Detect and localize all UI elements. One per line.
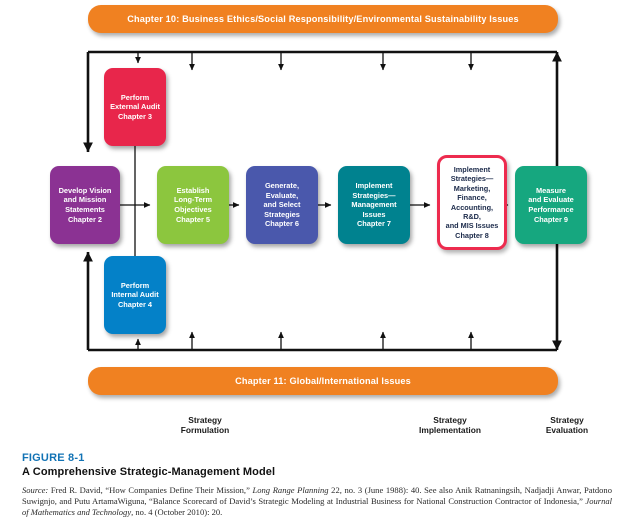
- bracket-label-strategy-formulation: Strategy Formulation: [150, 415, 260, 436]
- node-perform-internal-audit: Perform Internal Audit Chapter 4: [104, 256, 166, 334]
- source-journal-1: Long Range Planning: [253, 485, 329, 495]
- node-develop-vision-mission: Develop Vision and Mission Statements Ch…: [50, 166, 120, 244]
- banner-chapter-11: Chapter 11: Global/International Issues: [88, 367, 558, 395]
- node-measure-evaluate-performance: Measure and Evaluate Performance Chapter…: [515, 166, 587, 244]
- figure-container: Chapter 10: Business Ethics/Social Respo…: [0, 0, 624, 524]
- banner-chapter-10: Chapter 10: Business Ethics/Social Respo…: [88, 5, 558, 33]
- figure-title: A Comprehensive Strategic-Management Mod…: [22, 466, 612, 478]
- bracket-label-strategy-implementation: Strategy Implementation: [395, 415, 505, 436]
- source-note: Source: Fred R. David, “How Companies De…: [22, 485, 612, 518]
- node-implement-strategies-functional-highlighted: Implement Strategies— Marketing, Finance…: [437, 155, 507, 250]
- node-generate-evaluate-select-strategies: Generate, Evaluate, and Select Strategie…: [246, 166, 318, 244]
- strategic-management-diagram: Chapter 10: Business Ethics/Social Respo…: [0, 0, 624, 404]
- node-implement-strategies-management: Implement Strategies— Management Issues …: [338, 166, 410, 244]
- node-establish-long-term-objectives: Establish Long-Term Objectives Chapter 5: [157, 166, 229, 244]
- bracket-label-strategy-evaluation: Strategy Evaluation: [522, 415, 612, 436]
- source-text-3: , no. 4 (October 2010): 20.: [131, 507, 222, 517]
- figure-caption-block: FIGURE 8-1 A Comprehensive Strategic-Man…: [22, 452, 612, 518]
- source-text-1: Fred R. David, “How Companies Define The…: [48, 485, 252, 495]
- node-perform-external-audit: Perform External Audit Chapter 3: [104, 68, 166, 146]
- source-label: Source:: [22, 485, 48, 495]
- figure-number: FIGURE 8-1: [22, 452, 612, 464]
